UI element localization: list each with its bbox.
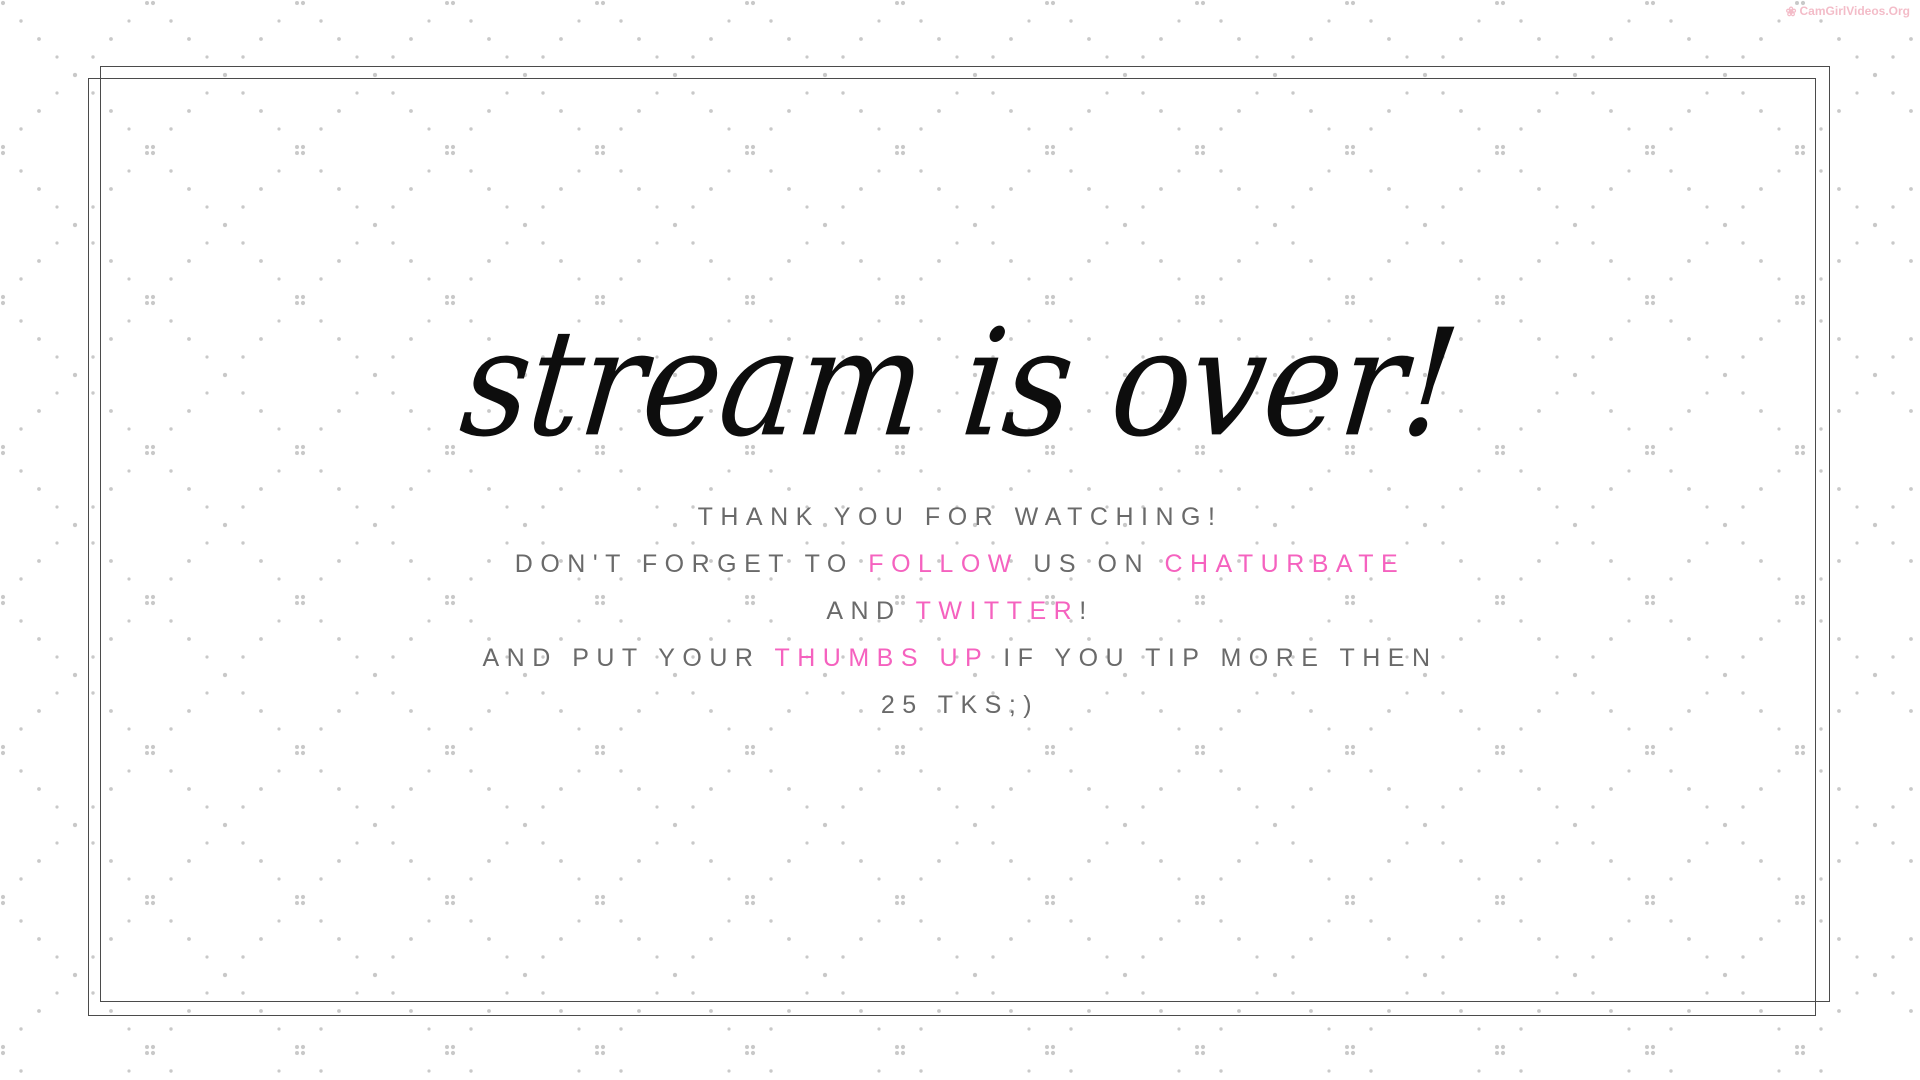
overlay-content: stream is over! THANK YOU FOR WATCHING! … — [0, 0, 1920, 1080]
if-you-tip-text: IF YOU TIP MORE THEN — [989, 644, 1438, 672]
stream-over-overlay: stream is over! THANK YOU FOR WATCHING! … — [0, 0, 1920, 1080]
dont-forget-text: DON'T FORGET TO — [515, 550, 869, 578]
watermark: ❀ CamGirlVideos.Org — [1786, 4, 1910, 18]
flower-icon: ❀ — [1786, 5, 1797, 18]
thank-you-text: THANK YOU FOR WATCHING! — [698, 503, 1223, 531]
chaturbate-highlight: CHATURBATE — [1164, 550, 1405, 578]
overlay-message-block: THANK YOU FOR WATCHING! DON'T FORGET TO … — [482, 494, 1437, 729]
and-put-your-text: AND PUT YOUR — [482, 644, 774, 672]
watermark-text: CamGirlVideos.Org — [1800, 4, 1910, 18]
message-line-1: THANK YOU FOR WATCHING! — [482, 494, 1437, 541]
thumbs-up-highlight: THUMBS UP — [774, 644, 988, 672]
exclamation-text: ! — [1079, 597, 1093, 625]
twitter-highlight: TWITTER — [916, 597, 1080, 625]
headline-stream-is-over: stream is over! — [456, 310, 1465, 458]
us-on-text: US ON — [1019, 550, 1165, 578]
message-line-4: AND PUT YOUR THUMBS UP IF YOU TIP MORE T… — [482, 635, 1437, 682]
and-text: AND — [826, 597, 915, 625]
tip-amount-text: 25 TKS;) — [881, 691, 1039, 719]
message-line-5: 25 TKS;) — [482, 682, 1437, 729]
follow-highlight: FOLLOW — [868, 550, 1019, 578]
message-line-2: DON'T FORGET TO FOLLOW US ON CHATURBATE — [482, 541, 1437, 588]
message-line-3: AND TWITTER! — [482, 588, 1437, 635]
